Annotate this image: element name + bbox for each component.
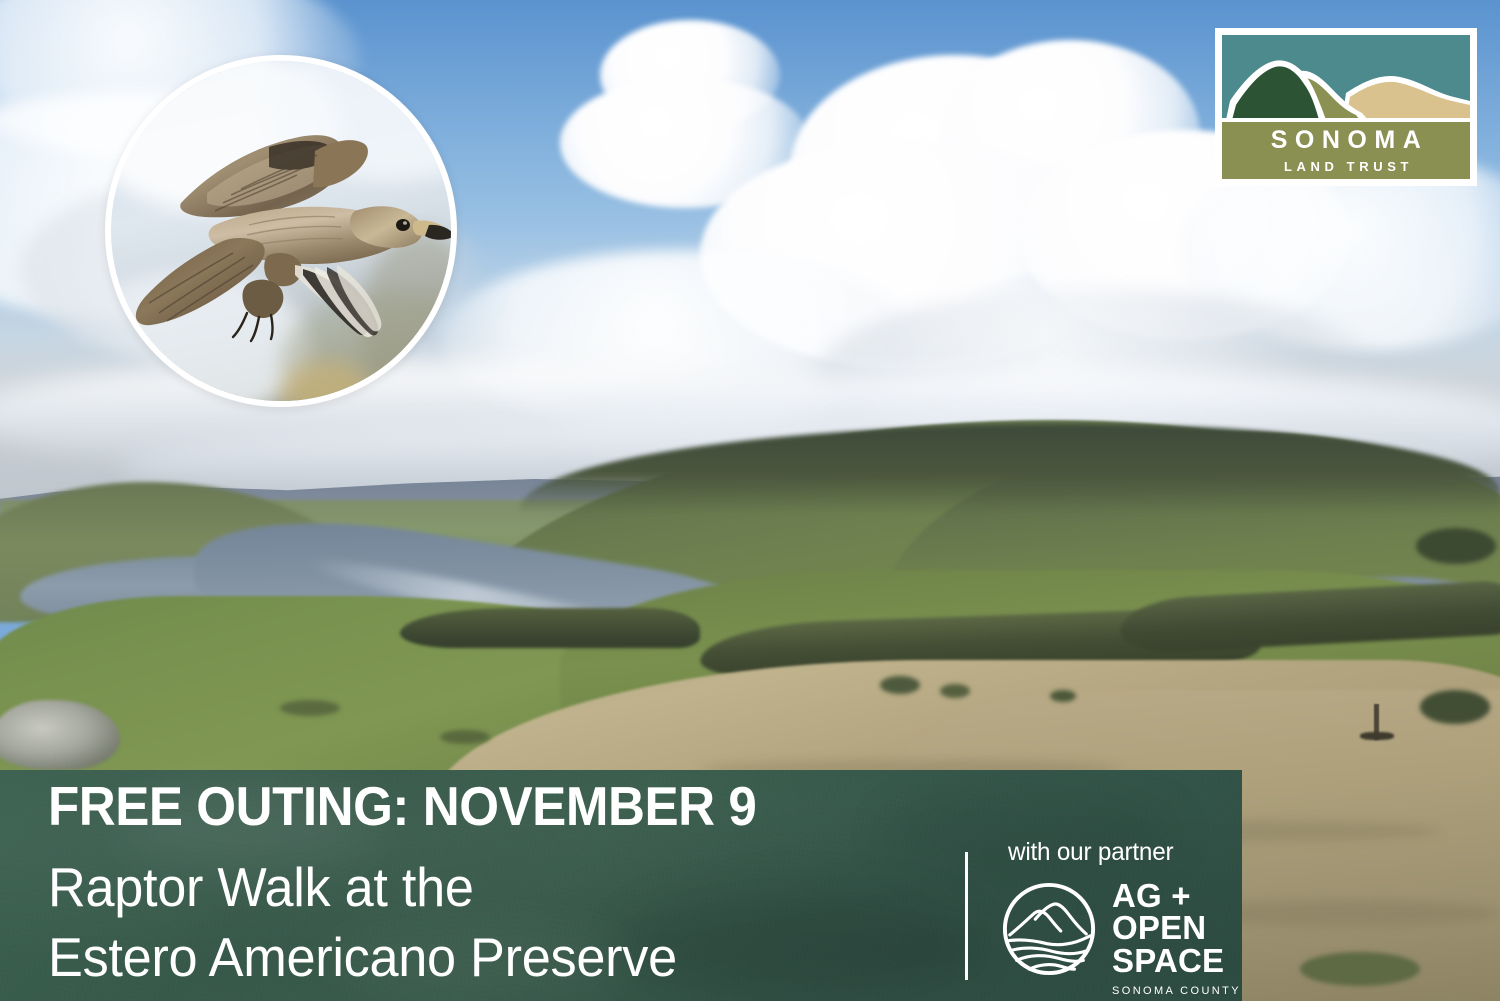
ag-open-space-logo-icon — [1000, 880, 1098, 978]
banner-subline-2: Estero Americano Preserve — [48, 930, 677, 985]
tree-clump — [1416, 528, 1496, 564]
shrub — [280, 700, 340, 716]
logo-wordmark-band: SONOMA LAND TRUST — [1222, 122, 1470, 179]
shore-bluff — [400, 608, 700, 648]
aos-line-2: OPEN — [1112, 912, 1240, 944]
sonoma-land-trust-logo: SONOMA LAND TRUST — [1215, 28, 1477, 186]
red-tailed-hawk-illustration — [119, 107, 457, 367]
hawk-lower-wing — [136, 238, 265, 325]
hawk-eye-glint — [403, 221, 407, 225]
shrub — [1300, 952, 1420, 986]
ag-open-space-wordmark: AG + OPEN SPACE SONOMA COUNTY — [1112, 880, 1240, 997]
banner-headline: FREE OUTING: NOVEMBER 9 — [48, 779, 756, 834]
shrub — [440, 730, 490, 744]
fence-post-base — [1360, 732, 1394, 740]
logo-hills-svg — [1222, 35, 1470, 120]
aos-line-3: SPACE — [1112, 945, 1240, 977]
logo-word-sonoma: SONOMA — [1264, 128, 1429, 153]
shrub — [880, 676, 920, 694]
hawk-photo-inset — [105, 55, 457, 407]
banner-subline-1: Raptor Walk at the — [48, 860, 474, 915]
aos-line-1: AG + — [1112, 880, 1240, 912]
tree-clump — [1420, 690, 1490, 724]
hawk-eye — [396, 219, 410, 231]
banner-vertical-divider — [965, 852, 968, 980]
partner-block: with our partner AG + OPEN SPACE SONOMA … — [1000, 838, 1240, 998]
partner-label: with our partner — [1008, 838, 1173, 867]
event-promo-poster: SONOMA LAND TRUST FREE OUTING: NOVEMBER … — [0, 0, 1500, 1001]
shrub — [1050, 690, 1076, 702]
logo-word-land-trust: LAND TRUST — [1279, 160, 1413, 173]
hawk-talon-cluster — [242, 280, 283, 318]
logo-landscape-mark — [1222, 35, 1470, 120]
aos-county-label: SONOMA COUNTY — [1112, 985, 1240, 997]
hawk-beak — [425, 225, 455, 240]
shrub — [940, 684, 970, 698]
hill-shadow — [520, 424, 1500, 514]
